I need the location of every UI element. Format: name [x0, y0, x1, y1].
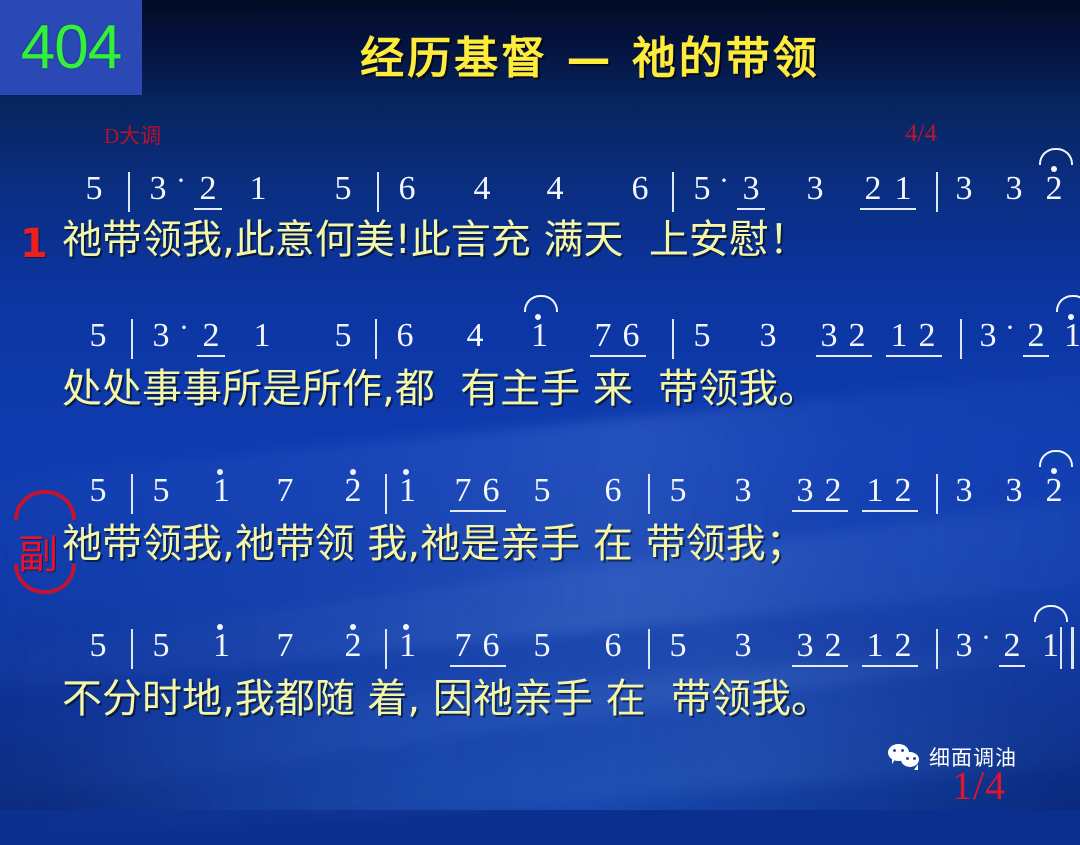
hymn-number: 404 [21, 17, 121, 79]
lyrics-line-3: 祂带领我,祂带领 我,祂是亲手 在 带领我； [0, 524, 1080, 564]
wechat-icon [888, 744, 922, 770]
staff-system-2: 5 3 · 2 1 5 6 4 1 7 6 5 3 3 2 1 2 [0, 305, 1080, 409]
hymn-number-badge: 404 [0, 0, 142, 95]
time-signature: 4/4 [905, 120, 937, 148]
lyrics-line-2: 处处事事所是所作,都 有主手 来 带领我。 [0, 369, 1080, 409]
notation-row-1: 5 3 · 2 1 5 6 4 4 6 5 · 3 3 2 1 3 3 2 [0, 158, 1080, 208]
page-indicator: 1/4 [952, 762, 1006, 809]
lyrics-line-4: 不分时地,我都随 着, 因祂亲手 在 带领我。 [0, 679, 1080, 719]
page-title: 经历基督 — 祂的带领 [250, 36, 930, 82]
notation-row-4: 5 5 1 7 2 1 7 6 5 6 5 3 3 2 1 2 3 [0, 615, 1080, 665]
chorus-bracket-bottom [14, 564, 76, 594]
key-signature: D大调 [104, 120, 161, 150]
notation-row-3: 5 5 1 7 2 1 7 6 5 6 5 3 3 2 1 2 3 [0, 460, 1080, 510]
slide-canvas: 404 经历基督 — 祂的带领 D大调 4/4 5 3 · 2 1 5 6 4 … [0, 0, 1080, 810]
staff-system-1: 5 3 · 2 1 5 6 4 4 6 5 · 3 3 2 1 3 3 2 [0, 158, 1080, 260]
lyrics-line-1: 祂带领我,此意何美!此言充 满天 上安慰！ [0, 220, 1080, 260]
notation-row-2: 5 3 · 2 1 5 6 4 1 7 6 5 3 3 2 1 2 [0, 305, 1080, 355]
staff-system-3: 5 5 1 7 2 1 7 6 5 6 5 3 3 2 1 2 3 [0, 460, 1080, 564]
verse-number-mark: 1 [20, 221, 48, 267]
staff-system-4: 5 5 1 7 2 1 7 6 5 6 5 3 3 2 1 2 3 [0, 615, 1080, 719]
